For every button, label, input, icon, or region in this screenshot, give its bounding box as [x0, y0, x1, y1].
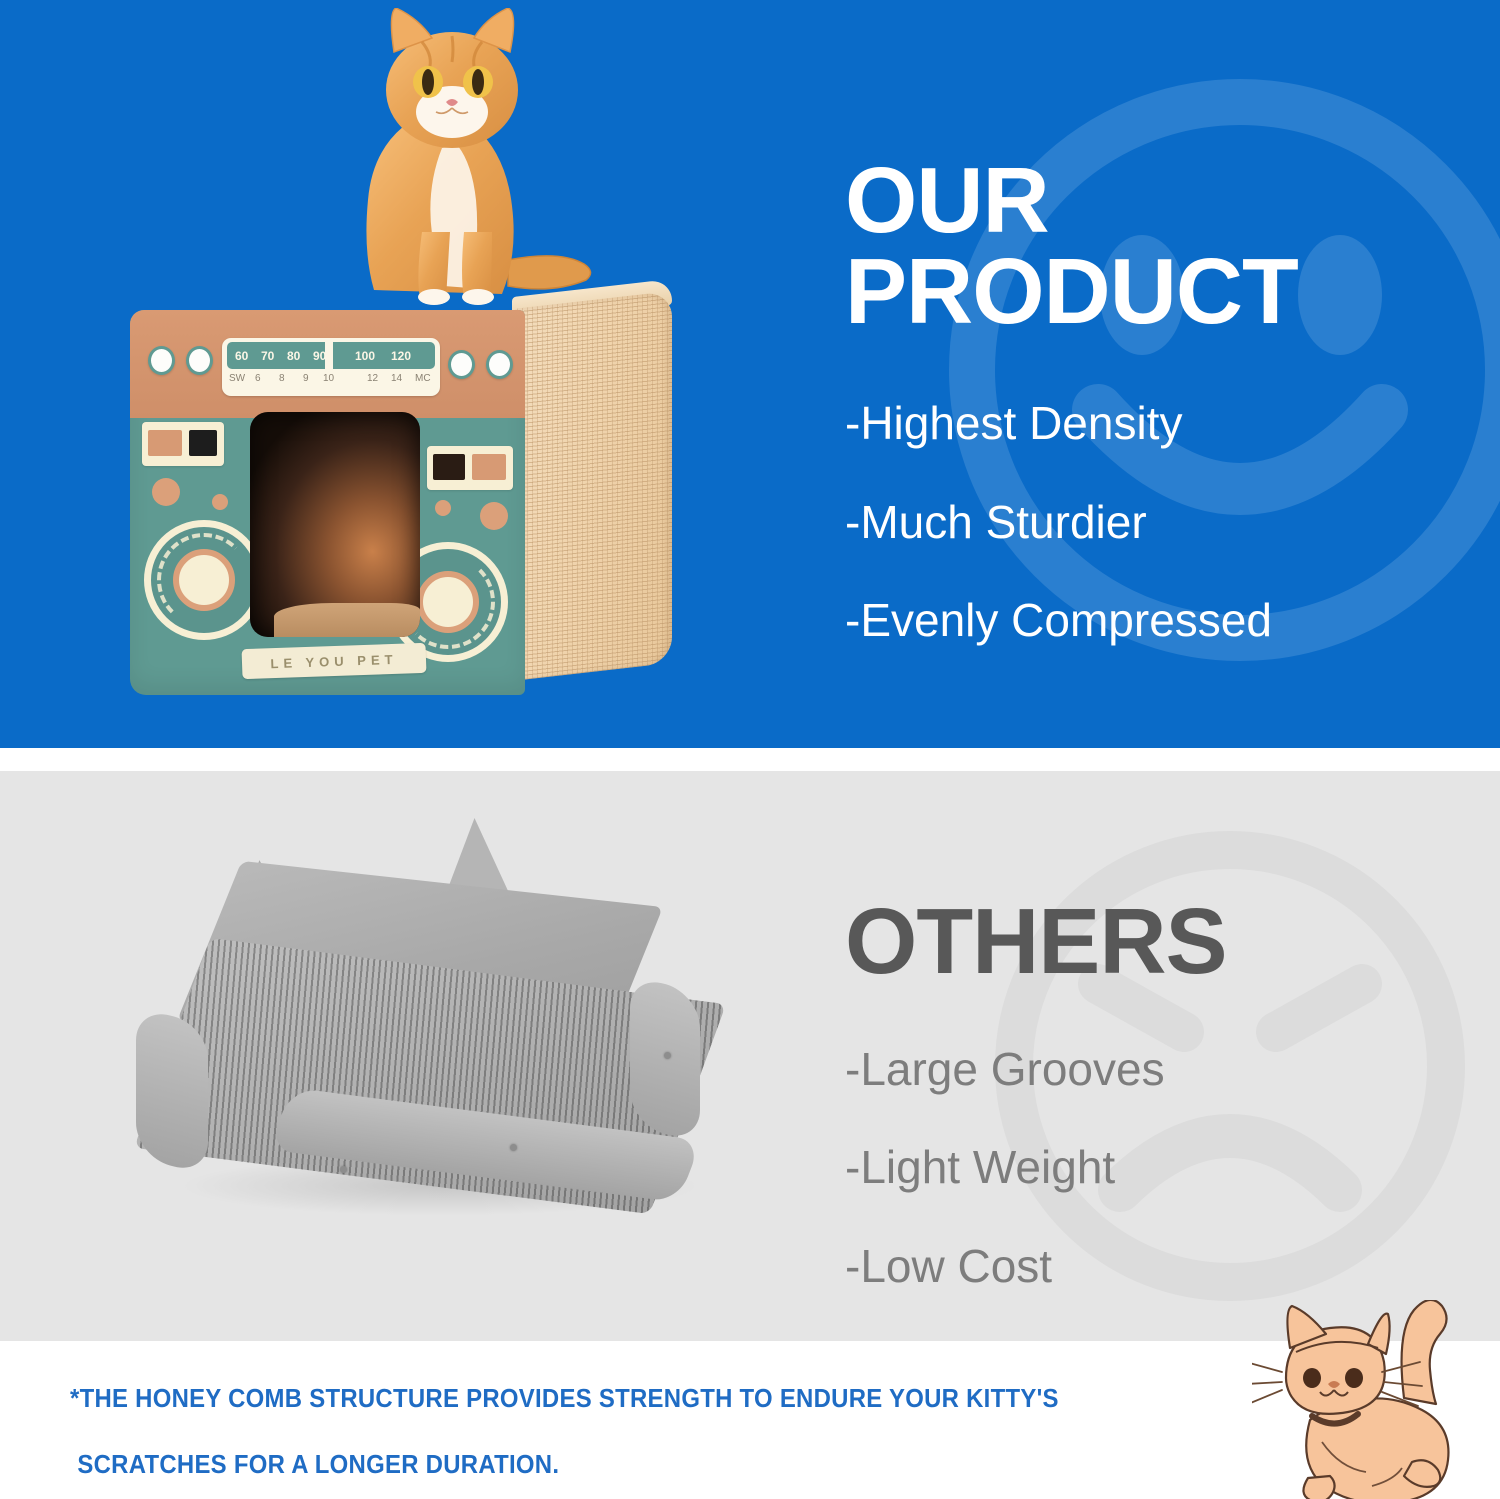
boombox-knob-2	[212, 494, 228, 510]
boombox-button-1	[148, 346, 175, 375]
brand-plate-text: LE YOU PET	[270, 651, 398, 670]
bullet-item: -Much Sturdier	[845, 498, 1465, 546]
dial-mark: 8	[279, 373, 285, 384]
others-bullet-list: -Large Grooves -Light Weight -Low Cost	[845, 1045, 1465, 1290]
boombox-button-2	[186, 346, 213, 375]
dial-mark: 60	[235, 349, 248, 363]
dial-mark: 100	[355, 349, 375, 363]
boombox-tuner-dial: 60 70 80 90 100 120 SW 6 8 9 10 12	[222, 338, 440, 396]
dial-upper-scale: 60 70 80 90 100 120	[227, 342, 435, 369]
scratcher-screw	[340, 1166, 347, 1173]
boombox-knob-3	[435, 500, 451, 516]
boombox-button-3	[448, 350, 475, 379]
our-product-title: OUR PRODUCT	[845, 155, 1465, 337]
scratcher-side-rail-right	[630, 974, 700, 1144]
scratcher-screw	[510, 1144, 517, 1151]
boombox-cassette-deck-left	[142, 422, 224, 466]
dial-mark: 6	[255, 373, 261, 384]
bullet-item: -Highest Density	[845, 399, 1465, 447]
dial-mark: 12	[367, 373, 378, 384]
boombox-front-face: 60 70 80 90 100 120 SW 6 8 9 10 12	[130, 310, 525, 695]
others-title: OTHERS	[845, 896, 1465, 987]
dial-mark: MC	[415, 373, 431, 384]
bullet-item: -Large Grooves	[845, 1045, 1465, 1093]
bullet-item: -Evenly Compressed	[845, 596, 1465, 644]
dial-mark: 120	[391, 349, 411, 363]
boombox-cassette-deck-right	[427, 446, 513, 490]
scratcher-side-rail-left	[136, 1006, 208, 1175]
dial-lower-scale: SW 6 8 9 10 12 14 MC	[227, 369, 435, 389]
title-line-2: PRODUCT	[845, 246, 1465, 337]
competitor-photo-cat-scratcher	[140, 866, 760, 1266]
others-text-block: OTHERS -Large Grooves -Light Weight -Low…	[845, 896, 1465, 1340]
our-product-bullet-list: -Highest Density -Much Sturdier -Evenly …	[845, 399, 1465, 644]
title-line-1: OUR	[845, 155, 1465, 246]
others-panel: OTHERS -Large Grooves -Light Weight -Low…	[0, 771, 1500, 1341]
orange-tabby-cat-photo	[312, 8, 602, 308]
brand-plate: LE YOU PET	[242, 643, 427, 679]
boombox-knob-4	[480, 502, 508, 530]
boombox-cat-cave-entrance	[250, 412, 420, 637]
dial-mark: 10	[323, 373, 334, 384]
boombox-knob-1	[152, 478, 180, 506]
footnote-line-2: SCRATCHES FOR A LONGER DURATION.	[70, 1451, 1156, 1477]
cartoon-cat-icon	[1252, 1300, 1492, 1499]
our-product-panel: 60 70 80 90 100 120 SW 6 8 9 10 12	[0, 0, 1500, 748]
dial-mark: 70	[261, 349, 274, 363]
footnote-block: *THE HONEY COMB STRUCTURE PROVIDES STREN…	[70, 1385, 1250, 1477]
bullet-item: -Low Cost	[845, 1242, 1465, 1290]
bullet-item: -Light Weight	[845, 1143, 1465, 1191]
dial-mark: 14	[391, 373, 402, 384]
scratcher-screw	[664, 1052, 671, 1059]
boombox-button-4	[486, 350, 513, 379]
product-photo-boombox-cat-house: 60 70 80 90 100 120 SW 6 8 9 10 12	[130, 280, 670, 700]
boombox-speaker-left	[144, 520, 264, 640]
footnote-line-1: *THE HONEY COMB STRUCTURE PROVIDES STREN…	[70, 1385, 1156, 1411]
boombox-honeycomb-side-panel	[512, 291, 672, 681]
infographic-page: 60 70 80 90 100 120 SW 6 8 9 10 12	[0, 0, 1500, 1499]
dial-mark: SW	[229, 373, 245, 384]
dial-mark: 80	[287, 349, 300, 363]
our-product-text-block: OUR PRODUCT -Highest Density -Much Sturd…	[845, 155, 1465, 694]
dial-mark: 9	[303, 373, 309, 384]
dial-mark: 90	[313, 349, 326, 363]
